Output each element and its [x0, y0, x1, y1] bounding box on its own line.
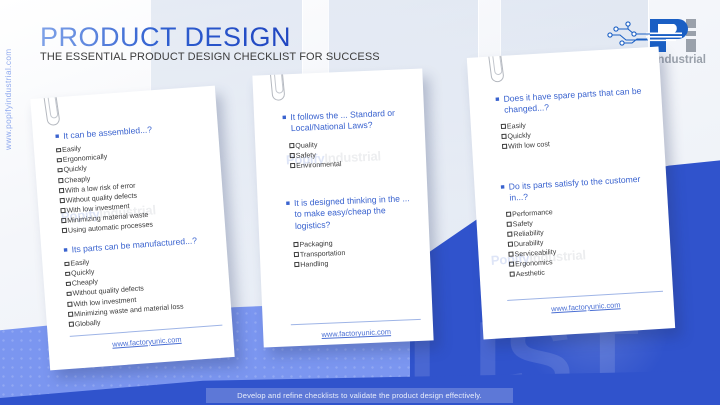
checkbox-icon[interactable]: [66, 292, 71, 297]
card-url-link[interactable]: www.factoryunic.com: [508, 298, 664, 316]
checklist-option-label: Quality: [295, 141, 317, 150]
page-subtitle: THE ESSENTIAL PRODUCT DESIGN CHECKLIST F…: [40, 51, 380, 63]
checkbox-icon[interactable]: [293, 242, 298, 247]
checkbox-icon[interactable]: [61, 218, 66, 223]
checkbox-icon[interactable]: [68, 312, 73, 317]
checkbox-icon[interactable]: [294, 262, 299, 267]
footer-banner: Develop and refine checklists to validat…: [206, 388, 513, 403]
checklist-options: Quality Safety Environmental: [289, 136, 414, 171]
checklist-options: Packaging Transportation Handling: [293, 235, 418, 270]
checkbox-icon[interactable]: [506, 212, 511, 217]
checkbox-icon[interactable]: [65, 271, 70, 276]
bullet-icon: ■: [63, 245, 68, 257]
page-title: PRODUCT DESIGN: [40, 22, 291, 53]
checkbox-icon[interactable]: [290, 163, 295, 168]
checklist-options: Easily Quickly With low cost: [501, 113, 655, 152]
checklist-option-label: Aesthetic: [515, 269, 545, 279]
checklist-option-label: Cheaply: [64, 175, 91, 185]
checkbox-icon[interactable]: [58, 178, 63, 183]
bullet-icon: ■: [55, 131, 60, 143]
checklist-option-label: Ergonomics: [515, 258, 553, 268]
checkbox-icon[interactable]: [66, 281, 71, 286]
checkbox-icon[interactable]: [60, 198, 65, 203]
bullet-icon: ■: [500, 182, 506, 205]
checkbox-icon[interactable]: [510, 272, 515, 277]
checklist-option-label: Quickly: [63, 165, 87, 175]
checkbox-icon[interactable]: [67, 302, 72, 307]
checkbox-icon[interactable]: [64, 261, 69, 266]
footer-banner-text: Develop and refine checklists to validat…: [237, 391, 482, 400]
checklist-options: Easily Quickly Cheaply Without quality d…: [64, 248, 222, 329]
checklist-question-text: Do its parts satisfy to the customer in.…: [508, 173, 657, 204]
checkbox-icon[interactable]: [60, 208, 65, 213]
checkbox-icon[interactable]: [69, 322, 74, 327]
checklist-question-text: It follows the ... Standard or Local/Nat…: [290, 107, 413, 135]
checkbox-icon[interactable]: [56, 148, 61, 153]
checkbox-icon[interactable]: [59, 188, 64, 193]
checkbox-icon[interactable]: [507, 222, 512, 227]
card-url-link[interactable]: www.factoryunic.com: [291, 326, 421, 340]
checkbox-icon[interactable]: [62, 228, 67, 233]
checkbox-icon[interactable]: [290, 153, 295, 158]
checkbox-icon[interactable]: [57, 168, 62, 173]
bullet-icon: ■: [282, 112, 287, 135]
checkbox-icon[interactable]: [508, 242, 513, 247]
checklist-options: Easily Ergonomically Quickly Cheaply Wit…: [56, 135, 215, 237]
checklist-option-label: Transportation: [300, 249, 346, 259]
checklist-option-label: Easily: [62, 145, 81, 154]
checklist-option-label: Safety: [296, 151, 316, 160]
checklist-option-label: Reliability: [513, 228, 544, 238]
checkbox-icon[interactable]: [508, 252, 513, 257]
checklist-option-label: Handling: [300, 260, 328, 269]
checklist-card[interactable]: PopifyIndustrial ■ It can be assembled..…: [30, 86, 234, 371]
checklist-option-label: Easily: [507, 121, 526, 130]
slide-canvas: CHECKLIST PRODUCT DESIGN THE ESSENTIAL P…: [0, 0, 720, 405]
checkbox-icon[interactable]: [501, 134, 506, 139]
checklist-options: Performance Safety Reliability Durabilit…: [506, 200, 662, 279]
checklist-option-label: Easily: [70, 259, 89, 268]
checklist-question-text: Does it have spare parts that can be cha…: [503, 85, 652, 116]
checklist-option-label: Performance: [512, 208, 553, 218]
checklist-option-label: With low cost: [508, 140, 550, 150]
brand-name-secondary: Industrial: [654, 54, 706, 66]
checkbox-icon[interactable]: [294, 252, 299, 257]
checklist-question: ■ It follows the ... Standard or Local/N…: [282, 107, 413, 135]
checkbox-icon[interactable]: [501, 124, 506, 129]
checklist-option-label: Quickly: [71, 268, 95, 278]
checklist-card[interactable]: PopifyIndustrial ■ It follows the ... St…: [252, 69, 433, 348]
checklist-option-label: Globally: [75, 318, 101, 328]
bullet-icon: ■: [495, 94, 501, 117]
checklist-question-text: It is designed thinking in the ... to ma…: [294, 193, 417, 232]
sidebar-vertical-url[interactable]: www.popifyindustrial.com: [4, 48, 13, 150]
checklist-card[interactable]: PopifyIndustrial ■ Does it have spare pa…: [467, 47, 675, 340]
checklist-option-label: Environmental: [296, 160, 342, 170]
checkbox-icon[interactable]: [509, 262, 514, 267]
checkbox-icon[interactable]: [507, 232, 512, 237]
checkbox-icon[interactable]: [289, 143, 294, 148]
checklist-question: ■ Do its parts satisfy to the customer i…: [500, 173, 657, 205]
checkbox-icon[interactable]: [502, 144, 507, 149]
checklist-question: ■ Does it have spare parts that can be c…: [495, 85, 652, 117]
checkbox-icon[interactable]: [57, 158, 62, 163]
checklist-option-label: Quickly: [507, 131, 531, 140]
checklist-option-label: Durability: [514, 238, 544, 248]
checklist-option-label: Safety: [512, 219, 533, 228]
card-divider: [291, 319, 421, 325]
checklist-option-label: Packaging: [299, 239, 332, 248]
bullet-icon: ■: [286, 198, 292, 232]
checklist-question: ■ It is designed thinking in the ... to …: [286, 193, 417, 232]
